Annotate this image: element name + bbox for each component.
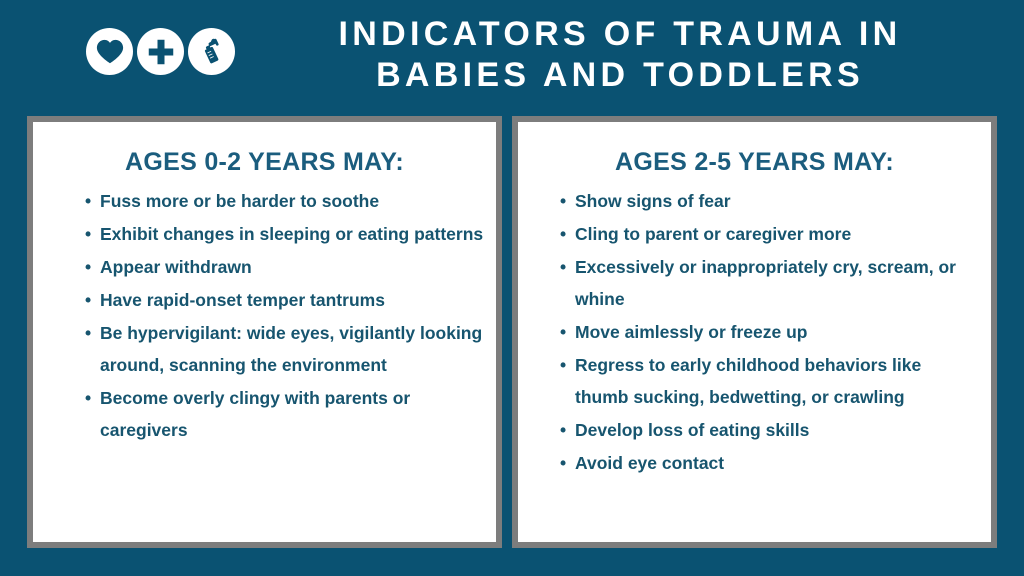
list-item: • Exhibit changes in sleeping or eating … — [85, 218, 484, 250]
bullet-icon: • — [560, 218, 566, 250]
list-item: • Appear withdrawn — [85, 251, 484, 283]
bullet-icon: • — [85, 382, 91, 414]
header-icon-row — [86, 28, 235, 75]
bullet-icon: • — [560, 316, 566, 348]
card-heading: Ages 2-5 Years May: — [518, 148, 991, 177]
page-title: Indicators of Trauma in Babies and Toddl… — [250, 14, 990, 96]
list-item-label: Cling to parent or caregiver more — [575, 224, 851, 244]
indicator-list: • Show signs of fear • Cling to parent o… — [518, 185, 991, 479]
bullet-icon: • — [85, 284, 91, 316]
list-item: • Regress to early childhood behaviors l… — [560, 349, 979, 413]
card-ages-2-5: Ages 2-5 Years May: • Show signs of fear… — [512, 116, 997, 548]
bullet-icon: • — [85, 185, 91, 217]
list-item-label: Show signs of fear — [575, 191, 731, 211]
list-item-label: Appear withdrawn — [100, 257, 252, 277]
cards-container: Ages 0-2 Years May: • Fuss more or be ha… — [0, 116, 1024, 550]
bullet-icon: • — [85, 218, 91, 250]
card-ages-0-2: Ages 0-2 Years May: • Fuss more or be ha… — [27, 116, 502, 548]
page-title-line-1: Indicators of Trauma in — [250, 14, 990, 55]
list-item-label: Have rapid-onset temper tantrums — [100, 290, 385, 310]
baby-bottle-icon — [188, 28, 235, 75]
list-item: • Develop loss of eating skills — [560, 414, 979, 446]
list-item-label: Fuss more or be harder to soothe — [100, 191, 379, 211]
bullet-icon: • — [560, 185, 566, 217]
list-item-label: Excessively or inappropriately cry, scre… — [575, 257, 956, 309]
header-banner: Indicators of Trauma in Babies and Toddl… — [0, 0, 1024, 112]
card-heading: Ages 0-2 Years May: — [33, 148, 496, 177]
list-item: • Fuss more or be harder to soothe — [85, 185, 484, 217]
bullet-icon: • — [560, 414, 566, 446]
medical-cross-icon — [137, 28, 184, 75]
indicator-list: • Fuss more or be harder to soothe • Exh… — [33, 185, 496, 446]
list-item: • Be hypervigilant: wide eyes, vigilantl… — [85, 317, 484, 381]
list-item-label: Move aimlessly or freeze up — [575, 322, 807, 342]
bullet-icon: • — [85, 317, 91, 349]
list-item-label: Regress to early childhood behaviors lik… — [575, 355, 921, 407]
list-item-label: Exhibit changes in sleeping or eating pa… — [100, 224, 483, 244]
bullet-icon: • — [85, 251, 91, 283]
list-item: • Move aimlessly or freeze up — [560, 316, 979, 348]
bullet-icon: • — [560, 251, 566, 283]
list-item: • Avoid eye contact — [560, 447, 979, 479]
list-item-label: Develop loss of eating skills — [575, 420, 809, 440]
list-item: • Show signs of fear — [560, 185, 979, 217]
list-item-label: Be hypervigilant: wide eyes, vigilantly … — [100, 323, 482, 375]
list-item: • Cling to parent or caregiver more — [560, 218, 979, 250]
list-item-label: Become overly clingy with parents or car… — [100, 388, 410, 440]
list-item: • Have rapid-onset temper tantrums — [85, 284, 484, 316]
list-item: • Become overly clingy with parents or c… — [85, 382, 484, 446]
bullet-icon: • — [560, 349, 566, 381]
heart-icon — [86, 28, 133, 75]
list-item-label: Avoid eye contact — [575, 453, 724, 473]
bullet-icon: • — [560, 447, 566, 479]
page-title-line-2: Babies and Toddlers — [250, 55, 990, 96]
list-item: • Excessively or inappropriately cry, sc… — [560, 251, 979, 315]
